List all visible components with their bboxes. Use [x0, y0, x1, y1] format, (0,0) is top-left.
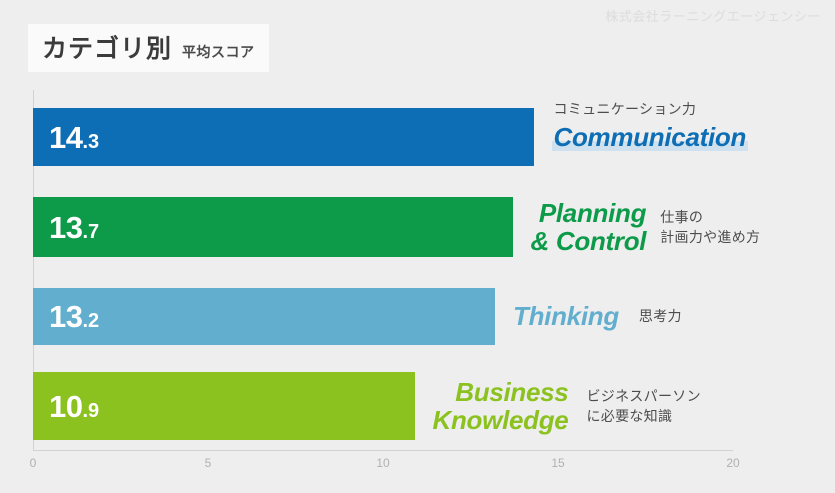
- label-group-business-knowledge: Business Knowledge ビジネスパーソン に必要な知識: [433, 372, 701, 440]
- label-group-planning-control: Planning & Control 仕事の 計画力や進め方: [531, 197, 761, 257]
- label-en-control: & Control: [531, 227, 647, 255]
- chart-canvas: 株式会社ラーニングエージェンシー カテゴリ別 平均スコア 0 5 10 15 2…: [0, 0, 835, 493]
- bar-value-thinking: 13.2: [49, 301, 99, 332]
- label-group-communication: コミュニケーション力 Communication: [552, 110, 749, 164]
- label-jp-business-line2: に必要な知識: [586, 406, 700, 426]
- bar-thinking: 13.2: [33, 288, 495, 345]
- label-jp-communication: コミュニケーション力: [554, 99, 697, 119]
- bar-value-planning-control: 13.7: [49, 212, 99, 243]
- label-en-business: Business: [455, 378, 568, 406]
- x-tick-15: 15: [551, 456, 564, 470]
- label-jp-planning-line1: 仕事の: [660, 207, 760, 227]
- bar-planning-control: 13.7: [33, 197, 513, 257]
- label-jp-planning-line2: 計画力や進め方: [660, 227, 760, 247]
- x-axis-line: [33, 450, 733, 451]
- bar-value-communication: 14.3: [49, 122, 99, 153]
- x-tick-5: 5: [205, 456, 212, 470]
- x-tick-0: 0: [30, 456, 37, 470]
- label-en-thinking: Thinking: [513, 302, 619, 330]
- label-jp-business-line1: ビジネスパーソン: [586, 386, 700, 406]
- label-jp-thinking: 思考力: [639, 306, 682, 326]
- plot-area: 0 5 10 15 20 14.3 コミュニケーション力 Communicati…: [0, 0, 835, 493]
- label-en-knowledge: Knowledge: [433, 406, 569, 434]
- x-tick-20: 20: [726, 456, 739, 470]
- x-tick-10: 10: [376, 456, 389, 470]
- label-en-planning: Planning: [539, 199, 646, 227]
- bar-communication: 14.3: [33, 108, 534, 166]
- label-en-communication: Communication: [552, 123, 749, 151]
- bar-value-business-knowledge: 10.9: [49, 391, 99, 422]
- bar-business-knowledge: 10.9: [33, 372, 415, 440]
- label-group-thinking: Thinking 思考力: [513, 288, 682, 345]
